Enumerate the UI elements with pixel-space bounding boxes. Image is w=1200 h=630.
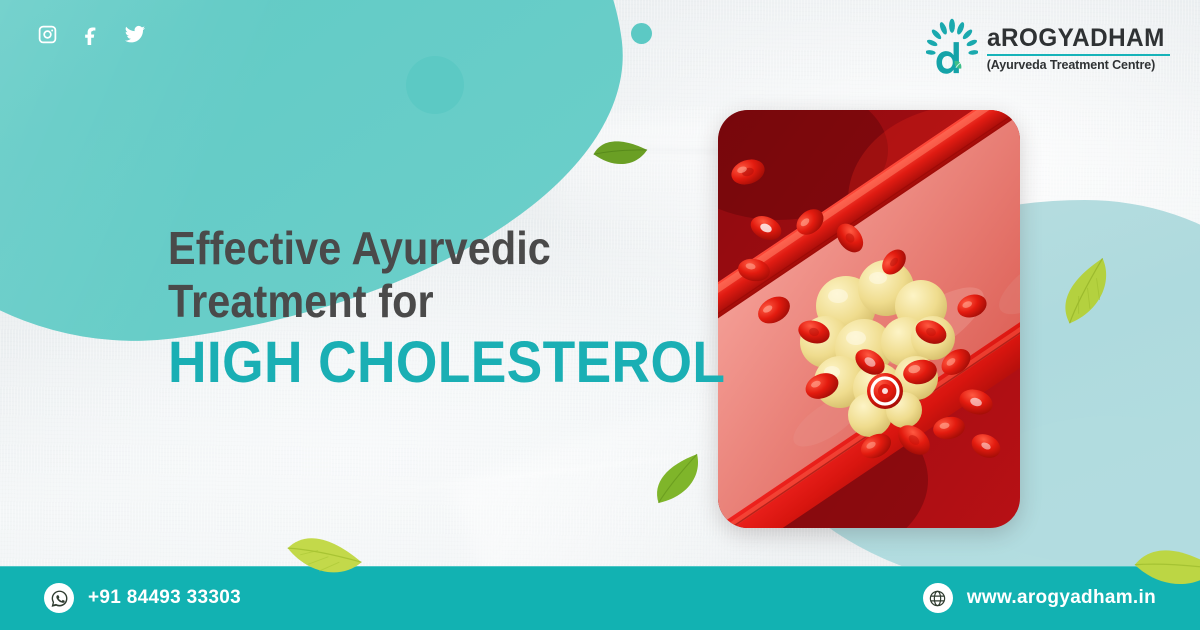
brand-name: aROGYADHAM (987, 26, 1165, 51)
facebook-icon[interactable] (80, 22, 102, 46)
ayurveda-leaf-a-icon (926, 18, 978, 80)
contact-footer: +91 84493 33303 www.arogyadham.in (0, 566, 1200, 630)
whatsapp-icon (44, 583, 74, 613)
headline-block: Effective Ayurvedic Treatment for HIGH C… (168, 222, 774, 394)
footer-top-edge (0, 566, 1200, 567)
social-links (36, 22, 146, 46)
promo-banner: aROGYADHAM (Ayurveda Treatment Centre) E… (0, 0, 1200, 630)
headline-line-2: Treatment for (168, 275, 713, 328)
brand-logo[interactable]: aROGYADHAM (Ayurveda Treatment Centre) (926, 18, 1170, 80)
twitter-icon[interactable] (124, 22, 146, 46)
brand-underline (987, 54, 1170, 56)
brand-tagline: (Ayurveda Treatment Centre) (987, 59, 1170, 73)
instagram-icon[interactable] (36, 22, 58, 46)
headline-line-1: Effective Ayurvedic (168, 222, 713, 275)
phone-number: +91 84493 33303 (88, 587, 241, 609)
website-url: www.arogyadham.in (967, 587, 1156, 609)
headline-emphasis: HIGH CHOLESTEROL (168, 332, 725, 394)
teal-dot-large (406, 56, 464, 114)
teal-dot-small (631, 23, 652, 44)
footer-website[interactable]: www.arogyadham.in (923, 583, 1156, 613)
globe-icon (923, 583, 953, 613)
footer-phone[interactable]: +91 84493 33303 (44, 583, 241, 613)
